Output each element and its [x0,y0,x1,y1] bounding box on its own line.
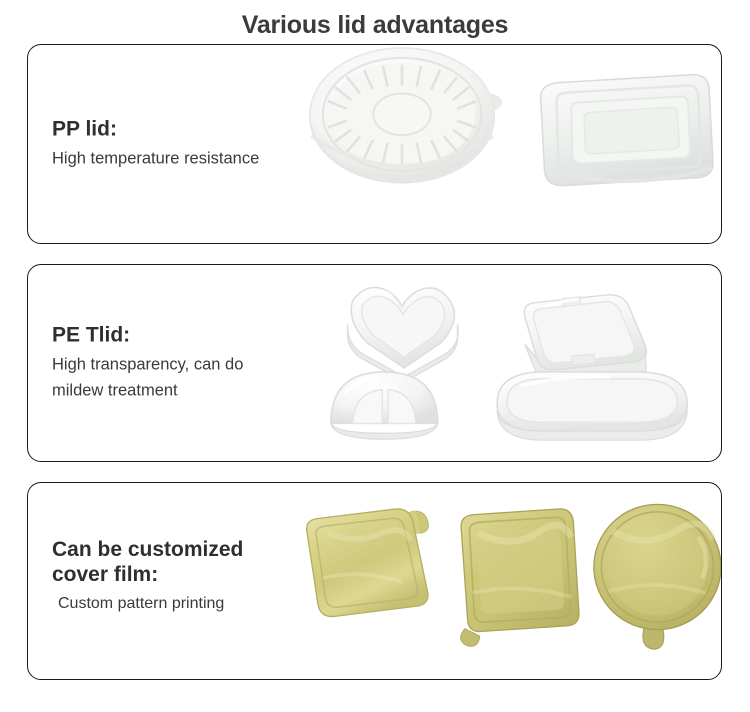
card-cover-film: Can be customized cover film: Custom pat… [27,482,722,680]
rectangular-pp-lid-graphic [541,75,713,186]
gold-rectangular-foil-lid-graphic [307,509,429,617]
gold-round-foil-lid-graphic [594,504,721,649]
page-title: Various lid advantages [0,0,750,40]
round-dome-clear-lid-graphic [331,372,438,439]
gold-square-foil-lid-graphic [461,509,579,646]
round-ribbed-pp-lid-graphic [309,48,502,184]
oval-flat-clear-lid-graphic [497,372,687,440]
card-pp-lid: PP lid: High temperature resistance [27,44,722,244]
card-pe-lid-images [291,265,721,461]
heart-shaped-clear-lid-graphic [348,287,459,381]
card-cover-film-images [291,483,721,679]
card-pp-lid-images [291,45,721,243]
card-pe-lid: PE Tlid: High transparency, can do milde… [27,264,722,462]
